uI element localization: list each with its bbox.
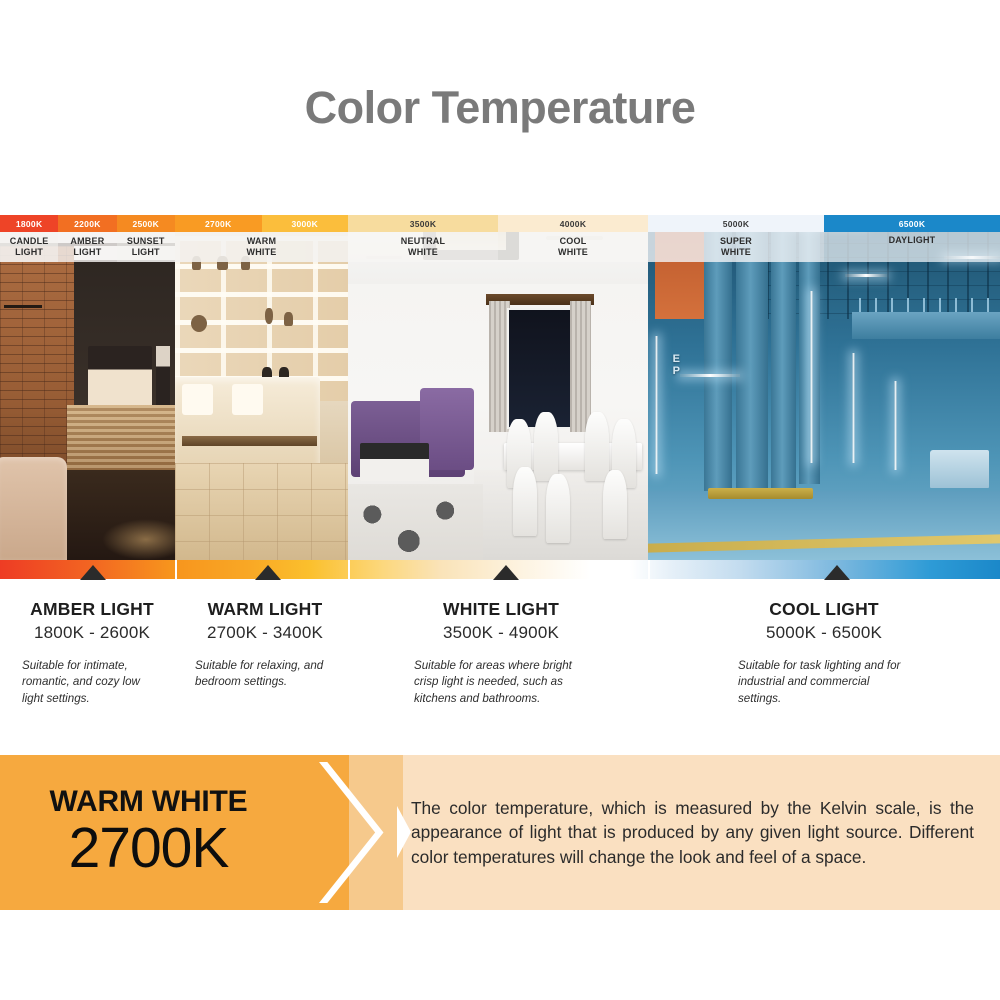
kelvin-band-row-4: 5000K 6500K xyxy=(648,215,1000,232)
banner-description-block: The color temperature, which is measured… xyxy=(403,755,1000,910)
kelvin-3500k: 3500K xyxy=(348,215,498,232)
photo-warm-brick-cafe xyxy=(0,215,175,560)
banner-kelvin-value: 2700K xyxy=(69,819,229,877)
kelvin-2200k: 2200K xyxy=(58,215,116,232)
chevron-right-icon xyxy=(297,755,403,910)
kelvin-2500k: 2500K xyxy=(117,215,175,232)
kelvin-4000k: 4000K xyxy=(498,215,648,232)
pointer-triangle-icon xyxy=(493,565,519,580)
title-section: Color Temperature xyxy=(0,0,1000,215)
pointer-triangle-icon xyxy=(255,565,281,580)
category-note: Suitable for intimate, romantic, and coz… xyxy=(8,658,176,707)
band-name-row-1: CANDLE LIGHT AMBER LIGHT SUNSET LIGHT xyxy=(0,232,175,262)
kelvin-band-row-3: 3500K 4000K xyxy=(348,215,648,232)
label-sunset-light: SUNSET LIGHT xyxy=(117,232,175,262)
kelvin-2700k: 2700K xyxy=(175,215,262,232)
category-range: 2700K - 3400K xyxy=(182,623,348,643)
band-name-row-4: SUPER WHITE DAYLIGHT xyxy=(648,232,1000,262)
category-range: 5000K - 6500K xyxy=(654,623,994,643)
label-warm-white: WARM WHITE xyxy=(175,232,348,262)
kelvin-3000k: 3000K xyxy=(262,215,349,232)
label-daylight: DAYLIGHT xyxy=(824,232,1000,262)
band-name-row-3: NEUTRAL WHITE COOL WHITE xyxy=(348,232,648,262)
category-warm-light: WARM LIGHT 2700K - 3400K Suitable for re… xyxy=(182,579,348,691)
category-note: Suitable for relaxing, and bedroom setti… xyxy=(182,658,348,691)
photo-warm-white-living-room xyxy=(175,215,348,560)
warehouse-sign-ep: EP xyxy=(673,353,680,377)
category-range: 1800K - 2600K xyxy=(8,623,176,643)
banner-description-text: The color temperature, which is measured… xyxy=(403,796,1000,870)
panel-super-white-daylight: EP 5000K 6500K SUPER WHITE DAYLIGHT xyxy=(648,215,1000,560)
panel-candle-amber-sunset: 1800K 2200K 2500K CANDLE LIGHT AMBER LIG… xyxy=(0,215,175,560)
category-name: AMBER LIGHT xyxy=(8,599,176,620)
kelvin-band-row-2: 2700K 3000K xyxy=(175,215,348,232)
photo-neutral-white-living-dining xyxy=(348,215,648,560)
photo-cool-blue-warehouse: EP xyxy=(648,215,1000,560)
color-temperature-strip: 1800K 2200K 2500K CANDLE LIGHT AMBER LIG… xyxy=(0,215,1000,560)
category-note: Suitable for task lighting and for indus… xyxy=(654,658,994,707)
category-cool-light: COOL LIGHT 5000K - 6500K Suitable for ta… xyxy=(654,579,994,707)
band-name-row-2: WARM WHITE xyxy=(175,232,348,262)
category-white-light: WHITE LIGHT 3500K - 4900K Suitable for a… xyxy=(356,579,646,707)
kelvin-1800k: 1800K xyxy=(0,215,58,232)
kelvin-6500k: 6500K xyxy=(824,215,1000,232)
category-amber-light: AMBER LIGHT 1800K - 2600K Suitable for i… xyxy=(8,579,176,707)
label-cool-white: COOL WHITE xyxy=(498,232,648,262)
banner-notch-icon xyxy=(397,806,411,858)
kelvin-band-row-1: 1800K 2200K 2500K xyxy=(0,215,175,232)
kelvin-5000k: 5000K xyxy=(648,215,824,232)
label-super-white: SUPER WHITE xyxy=(648,232,824,262)
label-candle-light: CANDLE LIGHT xyxy=(0,232,58,262)
panel-warm-white: 2700K 3000K WARM WHITE xyxy=(175,215,348,560)
label-neutral-white: NEUTRAL WHITE xyxy=(348,232,498,262)
page-title: Color Temperature xyxy=(305,82,696,134)
category-name: WHITE LIGHT xyxy=(356,599,646,620)
pointer-triangle-icon xyxy=(80,565,106,580)
category-range: 3500K - 4900K xyxy=(356,623,646,643)
category-name: COOL LIGHT xyxy=(654,599,994,620)
pointer-triangle-icon xyxy=(824,565,850,580)
panel-neutral-cool-white: 3500K 4000K NEUTRAL WHITE COOL WHITE xyxy=(348,215,648,560)
banner-highlight-block: WARM WHITE 2700K xyxy=(0,755,297,910)
category-descriptions: AMBER LIGHT 1800K - 2600K Suitable for i… xyxy=(0,579,1000,739)
category-note: Suitable for areas where bright crisp li… xyxy=(356,658,646,707)
category-name: WARM LIGHT xyxy=(182,599,348,620)
label-amber-light: AMBER LIGHT xyxy=(58,232,116,262)
banner-type-label: WARM WHITE xyxy=(50,787,248,817)
